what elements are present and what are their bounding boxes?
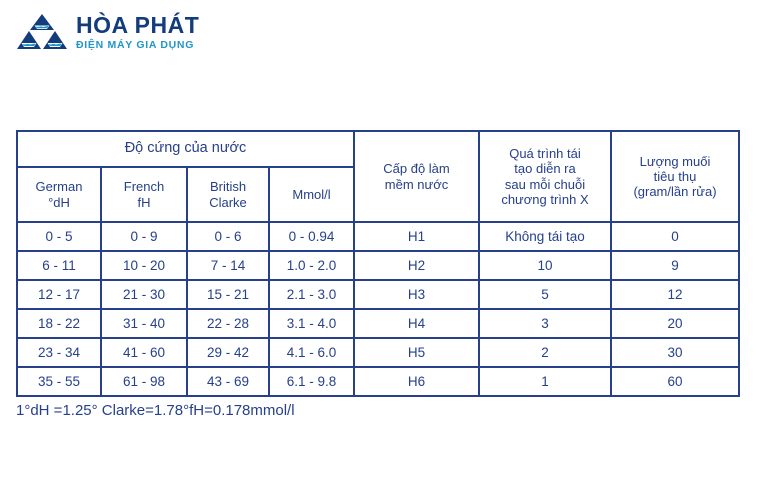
cell-salt: 12 bbox=[611, 280, 739, 309]
cell-french: 41 - 60 bbox=[101, 338, 187, 367]
brand-title: HÒA PHÁT bbox=[76, 14, 199, 37]
cell-level: H5 bbox=[354, 338, 479, 367]
cell-german: 6 - 11 bbox=[17, 251, 101, 280]
header-french-fh: French fH bbox=[101, 167, 187, 222]
header-water-hardness-group: Độ cứng của nước bbox=[17, 131, 354, 167]
cell-french: 31 - 40 bbox=[101, 309, 187, 338]
conversion-footnote: 1°dH =1.25° Clarke=1.78°fH=0.178mmol/l bbox=[16, 402, 295, 419]
cell-regen: Không tái tạo bbox=[479, 222, 611, 251]
table-header-group-row: Độ cứng của nước Cấp độ làm mềm nước Quá… bbox=[17, 131, 739, 167]
cell-salt: 9 bbox=[611, 251, 739, 280]
header-german-dh: German °dH bbox=[17, 167, 101, 222]
cell-level: H2 bbox=[354, 251, 479, 280]
cell-french: 61 - 98 bbox=[101, 367, 187, 396]
table-row: 0 - 5 0 - 9 0 - 6 0 - 0.94 H1 Không tái … bbox=[17, 222, 739, 251]
table-row: 35 - 55 61 - 98 43 - 69 6.1 - 9.8 H6 1 6… bbox=[17, 367, 739, 396]
cell-british: 29 - 42 bbox=[187, 338, 269, 367]
header-german-line1: German bbox=[36, 179, 83, 194]
cell-german: 35 - 55 bbox=[17, 367, 101, 396]
cell-french: 10 - 20 bbox=[101, 251, 187, 280]
brand-logo: HÒA PHÁT ĐIỆN MÁY GIA DỤNG bbox=[16, 12, 199, 52]
header-british-line1: British bbox=[210, 179, 246, 194]
header-regeneration-line1: Quá trình tái bbox=[509, 146, 581, 161]
cell-regen: 3 bbox=[479, 309, 611, 338]
cell-british: 0 - 6 bbox=[187, 222, 269, 251]
cell-british: 15 - 21 bbox=[187, 280, 269, 309]
cell-salt: 0 bbox=[611, 222, 739, 251]
table-body: 0 - 5 0 - 9 0 - 6 0 - 0.94 H1 Không tái … bbox=[17, 222, 739, 396]
cell-salt: 30 bbox=[611, 338, 739, 367]
cell-mmol: 3.1 - 4.0 bbox=[269, 309, 354, 338]
water-hardness-table: Độ cứng của nước Cấp độ làm mềm nước Quá… bbox=[16, 130, 740, 397]
header-regeneration-line2: tạo diễn ra bbox=[514, 161, 575, 176]
cell-british: 7 - 14 bbox=[187, 251, 269, 280]
header-french-line1: French bbox=[124, 179, 164, 194]
header-british-clarke: British Clarke bbox=[187, 167, 269, 222]
header-british-line2: Clarke bbox=[209, 195, 247, 210]
header-regeneration: Quá trình tái tạo diễn ra sau mỗi chuỗi … bbox=[479, 131, 611, 222]
cell-level: H6 bbox=[354, 367, 479, 396]
brand-wordmark: HÒA PHÁT ĐIỆN MÁY GIA DỤNG bbox=[76, 14, 199, 51]
header-softening-level-line2: mềm nước bbox=[385, 177, 448, 192]
table-row: 18 - 22 31 - 40 22 - 28 3.1 - 4.0 H4 3 2… bbox=[17, 309, 739, 338]
cell-french: 21 - 30 bbox=[101, 280, 187, 309]
cell-british: 22 - 28 bbox=[187, 309, 269, 338]
header-german-line2: °dH bbox=[48, 195, 70, 210]
table-row: 23 - 34 41 - 60 29 - 42 4.1 - 6.0 H5 2 3… bbox=[17, 338, 739, 367]
table-header: Độ cứng của nước Cấp độ làm mềm nước Quá… bbox=[17, 131, 739, 222]
cell-french: 0 - 9 bbox=[101, 222, 187, 251]
header-salt-consumption-line3: (gram/lần rửa) bbox=[633, 184, 716, 199]
table-row: 6 - 11 10 - 20 7 - 14 1.0 - 2.0 H2 10 9 bbox=[17, 251, 739, 280]
hoa-phat-mountain-logo-icon bbox=[16, 12, 68, 52]
cell-german: 23 - 34 bbox=[17, 338, 101, 367]
cell-mmol: 4.1 - 6.0 bbox=[269, 338, 354, 367]
cell-salt: 60 bbox=[611, 367, 739, 396]
cell-mmol: 1.0 - 2.0 bbox=[269, 251, 354, 280]
cell-level: H1 bbox=[354, 222, 479, 251]
header-salt-consumption-line1: Lượng muối bbox=[640, 154, 711, 169]
cell-mmol: 6.1 - 9.8 bbox=[269, 367, 354, 396]
cell-regen: 2 bbox=[479, 338, 611, 367]
page-root: HÒA PHÁT ĐIỆN MÁY GIA DỤNG Độ cứng của n… bbox=[0, 0, 760, 500]
cell-german: 12 - 17 bbox=[17, 280, 101, 309]
header-softening-level-line1: Cấp độ làm bbox=[383, 161, 449, 176]
cell-mmol: 2.1 - 3.0 bbox=[269, 280, 354, 309]
brand-tagline: ĐIỆN MÁY GIA DỤNG bbox=[76, 40, 199, 51]
table-row: 12 - 17 21 - 30 15 - 21 2.1 - 3.0 H3 5 1… bbox=[17, 280, 739, 309]
cell-german: 0 - 5 bbox=[17, 222, 101, 251]
header-salt-consumption: Lượng muối tiêu thụ (gram/lần rửa) bbox=[611, 131, 739, 222]
cell-salt: 20 bbox=[611, 309, 739, 338]
cell-regen: 5 bbox=[479, 280, 611, 309]
header-regeneration-line4: chương trình X bbox=[501, 192, 588, 207]
cell-german: 18 - 22 bbox=[17, 309, 101, 338]
cell-level: H4 bbox=[354, 309, 479, 338]
header-mmol: Mmol/l bbox=[269, 167, 354, 222]
cell-mmol: 0 - 0.94 bbox=[269, 222, 354, 251]
cell-regen: 1 bbox=[479, 367, 611, 396]
cell-british: 43 - 69 bbox=[187, 367, 269, 396]
header-salt-consumption-line2: tiêu thụ bbox=[654, 169, 697, 184]
header-regeneration-line3: sau mỗi chuỗi bbox=[505, 177, 585, 192]
cell-regen: 10 bbox=[479, 251, 611, 280]
cell-level: H3 bbox=[354, 280, 479, 309]
header-french-line2: fH bbox=[138, 195, 151, 210]
header-softening-level: Cấp độ làm mềm nước bbox=[354, 131, 479, 222]
